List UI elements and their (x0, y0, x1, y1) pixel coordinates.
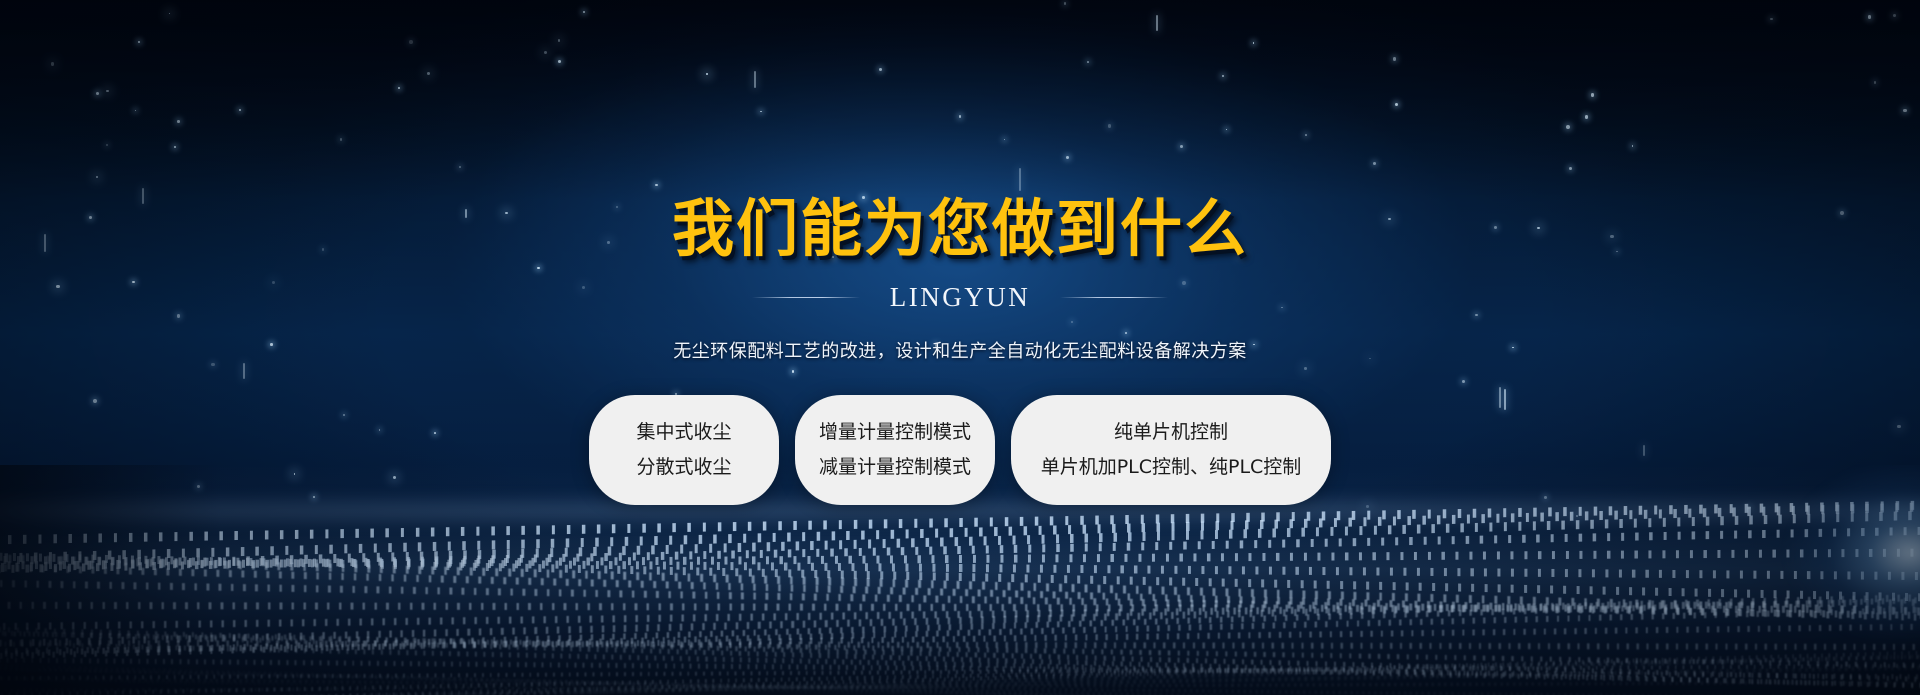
feature-pill-controller-type[interactable]: 纯单片机控制 单片机加PLC控制、纯PLC控制 (1011, 395, 1331, 505)
right-rule-icon (1060, 297, 1168, 298)
feature-pill-dust-collection[interactable]: 集中式收尘 分散式收尘 (589, 395, 779, 505)
banner-content: 我们能为您做到什么 LINGYUN 无尘环保配料工艺的改进，设计和生产全自动化无… (0, 0, 1920, 695)
brand-row: LINGYUN (752, 282, 1168, 313)
pill-line: 增量计量控制模式 (819, 423, 971, 442)
feature-pill-metering-control-mode[interactable]: 增量计量控制模式 减量计量控制模式 (795, 395, 995, 505)
page-title: 我们能为您做到什么 (672, 198, 1248, 260)
pill-line: 单片机加PLC控制、纯PLC控制 (1041, 458, 1302, 477)
pill-line: 纯单片机控制 (1114, 423, 1228, 442)
tagline: 无尘环保配料工艺的改进，设计和生产全自动化无尘配料设备解决方案 (673, 337, 1247, 363)
pill-line: 集中式收尘 (636, 423, 731, 442)
left-rule-icon (752, 297, 860, 298)
banner-stage: 我们能为您做到什么 LINGYUN 无尘环保配料工艺的改进，设计和生产全自动化无… (0, 0, 1920, 695)
feature-pill-row: 集中式收尘 分散式收尘 增量计量控制模式 减量计量控制模式 纯单片机控制 单片机… (589, 395, 1331, 505)
pill-line: 减量计量控制模式 (819, 458, 971, 477)
brand-name: LINGYUN (890, 282, 1030, 313)
pill-line: 分散式收尘 (636, 458, 731, 477)
